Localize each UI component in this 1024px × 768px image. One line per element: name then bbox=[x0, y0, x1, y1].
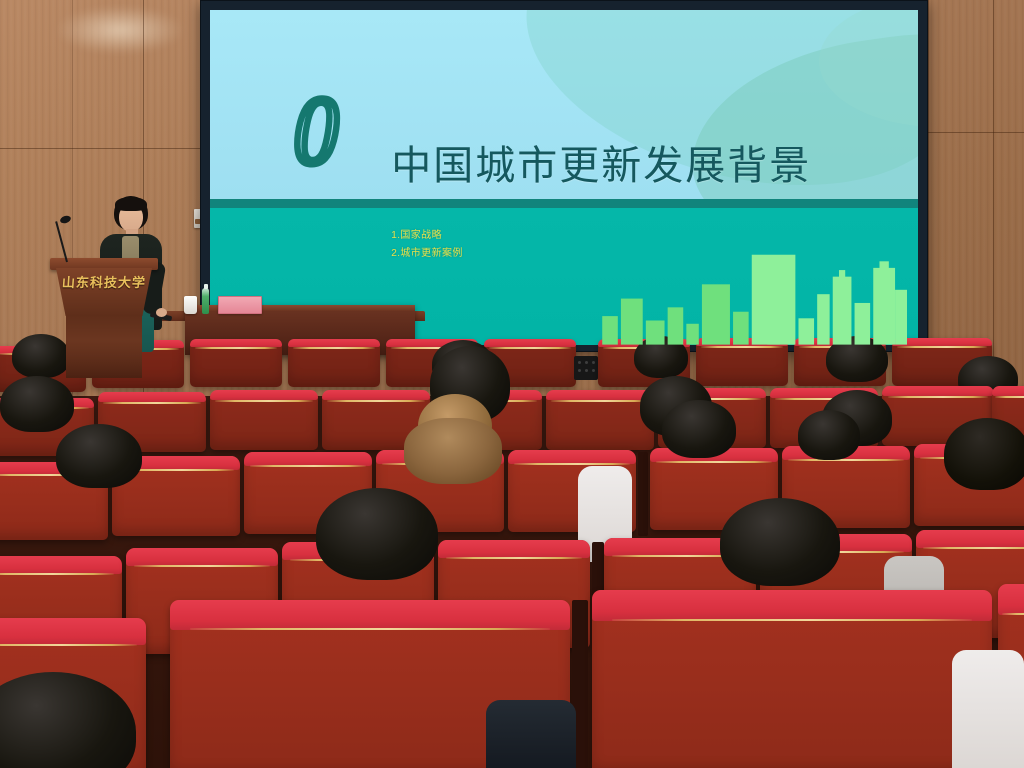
slide-section-number: 0 bbox=[294, 90, 338, 173]
seat[interactable] bbox=[696, 338, 788, 386]
ceiling-light-glare bbox=[55, 6, 185, 54]
seat[interactable] bbox=[210, 390, 318, 450]
audience-shirt bbox=[952, 650, 1024, 768]
bullet-item-1: 1.国家战略 bbox=[391, 227, 463, 245]
wall-seam bbox=[928, 132, 1024, 133]
seat[interactable] bbox=[592, 590, 992, 768]
audience-head bbox=[798, 410, 860, 460]
audience-head bbox=[662, 400, 736, 458]
paper-cup bbox=[184, 296, 197, 314]
wall-seam bbox=[993, 0, 994, 400]
name-card-sign bbox=[218, 296, 262, 314]
audience-shirt bbox=[486, 700, 576, 768]
slide-title: 中国城市更新发展背景 bbox=[391, 133, 811, 191]
lectern: 山东科技大学 bbox=[56, 258, 152, 378]
lecture-hall-scene: 1.国家战略 2.城市更新案例 0 中国城市更新发展背景 山东科技大学 bbox=[0, 0, 1024, 768]
seat-gap bbox=[638, 452, 648, 536]
audience-head bbox=[720, 498, 840, 586]
seat-vent-panel bbox=[574, 356, 598, 380]
seat[interactable] bbox=[190, 339, 282, 387]
lectern-body bbox=[66, 315, 142, 378]
water-bottle bbox=[202, 288, 209, 314]
audience-head bbox=[56, 424, 142, 488]
projection-screen: 1.国家战略 2.城市更新案例 0 中国城市更新发展背景 bbox=[200, 0, 928, 352]
seat[interactable] bbox=[546, 390, 654, 450]
slide-divider bbox=[210, 199, 918, 208]
audience-head bbox=[0, 376, 74, 432]
bullet-item-2: 2.城市更新案例 bbox=[391, 245, 463, 263]
audience-head bbox=[944, 418, 1024, 490]
seat[interactable] bbox=[288, 339, 380, 387]
presentation-slide: 1.国家战略 2.城市更新案例 0 中国城市更新发展背景 bbox=[210, 10, 918, 345]
speaker-hand bbox=[156, 308, 167, 317]
lectern-university-name: 山东科技大学 bbox=[55, 272, 152, 291]
wall-seam bbox=[0, 148, 200, 149]
audience-head bbox=[404, 418, 502, 484]
speaker-hair-front bbox=[115, 197, 147, 211]
audience-head bbox=[316, 488, 438, 580]
slide-bullet-list: 1.国家战略 2.城市更新案例 bbox=[391, 227, 463, 262]
city-skyline-icon bbox=[596, 235, 908, 345]
